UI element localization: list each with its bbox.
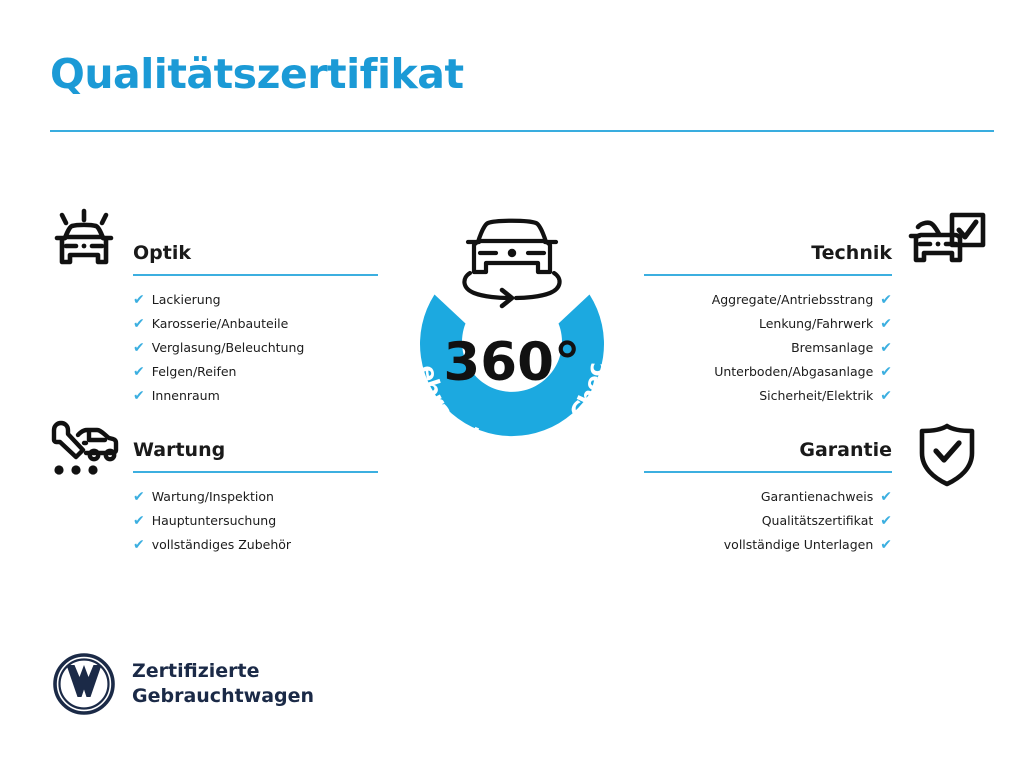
list-item: Garantienachweis ✔ — [644, 485, 892, 509]
checklist-wartung: ✔ Wartung/Inspektion ✔ Hauptuntersuchung… — [133, 485, 378, 557]
vw-logo-wordmark: Zertifizierte Gebrauchtwagen — [132, 659, 314, 709]
badge-360-gebrauchtwagen-check: Gebrauchtwagen-Check 360° — [378, 196, 646, 496]
check-icon: ✔ — [880, 538, 892, 552]
list-item: Qualitätszertifikat ✔ — [644, 509, 892, 533]
list-item-label: Lackierung — [152, 288, 221, 312]
list-item: Lenkung/Fahrwerk ✔ — [644, 312, 892, 336]
section-header-garantie: Garantie — [644, 437, 892, 473]
list-item: Sicherheit/Elektrik ✔ — [644, 384, 892, 408]
check-icon: ✔ — [133, 538, 145, 552]
list-item: ✔ Lackierung — [133, 288, 378, 312]
list-item-label: Verglasung/Beleuchtung — [152, 336, 305, 360]
check-icon: ✔ — [880, 365, 892, 379]
list-item-label: Bremsanlage — [791, 336, 873, 360]
list-item-label: Innenraum — [152, 384, 220, 408]
section-header-technik: Technik — [644, 240, 892, 276]
list-item: Aggregate/Antriebsstrang ✔ — [644, 288, 892, 312]
section-technik: Technik Aggregate/Antriebsstrang ✔ Lenku… — [644, 240, 892, 408]
list-item-label: vollständiges Zubehör — [152, 533, 291, 557]
certificate-page: Qualitätszertifikat Optik ✔ Lackierung — [0, 0, 1024, 768]
checklist-garantie: Garantienachweis ✔ Qualitätszertifikat ✔… — [644, 485, 892, 557]
check-icon: ✔ — [880, 389, 892, 403]
list-item: Bremsanlage ✔ — [644, 336, 892, 360]
list-item-label: Unterboden/Abgasanlage — [714, 360, 873, 384]
checklist-technik: Aggregate/Antriebsstrang ✔ Lenkung/Fahrw… — [644, 288, 892, 408]
list-item: ✔ Karosserie/Anbauteile — [133, 312, 378, 336]
check-icon: ✔ — [133, 317, 145, 331]
section-garantie: Garantie Garantienachweis ✔ Qualitätszer… — [644, 437, 892, 557]
check-icon: ✔ — [880, 514, 892, 528]
list-item-label: Qualitätszertifikat — [762, 509, 874, 533]
page-title: Qualitätszertifikat — [50, 52, 464, 97]
car-service-tool-icon — [48, 418, 120, 482]
section-title-garantie: Garantie — [644, 437, 892, 463]
section-header-wartung: Wartung — [133, 437, 378, 473]
list-item: ✔ Wartung/Inspektion — [133, 485, 378, 509]
section-divider-wartung — [133, 471, 378, 473]
title-divider — [50, 130, 994, 132]
list-item: ✔ vollständiges Zubehör — [133, 533, 378, 557]
vw-logo-line2: Gebrauchtwagen — [132, 684, 314, 709]
check-icon: ✔ — [133, 293, 145, 307]
section-divider-garantie — [644, 471, 892, 473]
list-item: ✔ Innenraum — [133, 384, 378, 408]
list-item-label: Felgen/Reifen — [152, 360, 237, 384]
check-icon: ✔ — [880, 317, 892, 331]
list-item-label: Lenkung/Fahrwerk — [759, 312, 873, 336]
vw-logo-line1: Zertifizierte — [132, 659, 314, 684]
list-item-label: Wartung/Inspektion — [152, 485, 274, 509]
checklist-optik: ✔ Lackierung ✔ Karosserie/Anbauteile ✔ V… — [133, 288, 378, 408]
list-item: vollständige Unterlagen ✔ — [644, 533, 892, 557]
section-header-optik: Optik — [133, 240, 378, 276]
list-item-label: Sicherheit/Elektrik — [759, 384, 873, 408]
vw-roundel-icon — [52, 652, 116, 716]
badge-center-label: 360° — [443, 332, 580, 393]
vw-logo: Zertifizierte Gebrauchtwagen — [52, 652, 314, 716]
check-icon: ✔ — [133, 389, 145, 403]
check-icon: ✔ — [133, 341, 145, 355]
section-title-optik: Optik — [133, 240, 378, 266]
shield-check-icon — [916, 422, 978, 492]
section-title-technik: Technik — [644, 240, 892, 266]
list-item: Unterboden/Abgasanlage ✔ — [644, 360, 892, 384]
list-item: ✔ Felgen/Reifen — [133, 360, 378, 384]
section-optik: Optik ✔ Lackierung ✔ Karosserie/Anbautei… — [133, 240, 378, 408]
check-icon: ✔ — [133, 365, 145, 379]
check-icon: ✔ — [133, 490, 145, 504]
list-item: ✔ Verglasung/Beleuchtung — [133, 336, 378, 360]
car-checkbox-icon — [908, 212, 986, 278]
check-icon: ✔ — [880, 341, 892, 355]
section-divider-optik — [133, 274, 378, 276]
section-divider-technik — [644, 274, 892, 276]
car-headlights-icon — [48, 206, 120, 272]
list-item-label: vollständige Unterlagen — [724, 533, 873, 557]
list-item-label: Garantienachweis — [761, 485, 873, 509]
check-icon: ✔ — [880, 293, 892, 307]
check-icon: ✔ — [133, 514, 145, 528]
section-wartung: Wartung ✔ Wartung/Inspektion ✔ Hauptunte… — [133, 437, 378, 557]
section-title-wartung: Wartung — [133, 437, 378, 463]
list-item: ✔ Hauptuntersuchung — [133, 509, 378, 533]
list-item-label: Karosserie/Anbauteile — [152, 312, 289, 336]
check-icon: ✔ — [880, 490, 892, 504]
list-item-label: Hauptuntersuchung — [152, 509, 276, 533]
car-rotate-icon — [464, 221, 559, 306]
list-item-label: Aggregate/Antriebsstrang — [712, 288, 874, 312]
